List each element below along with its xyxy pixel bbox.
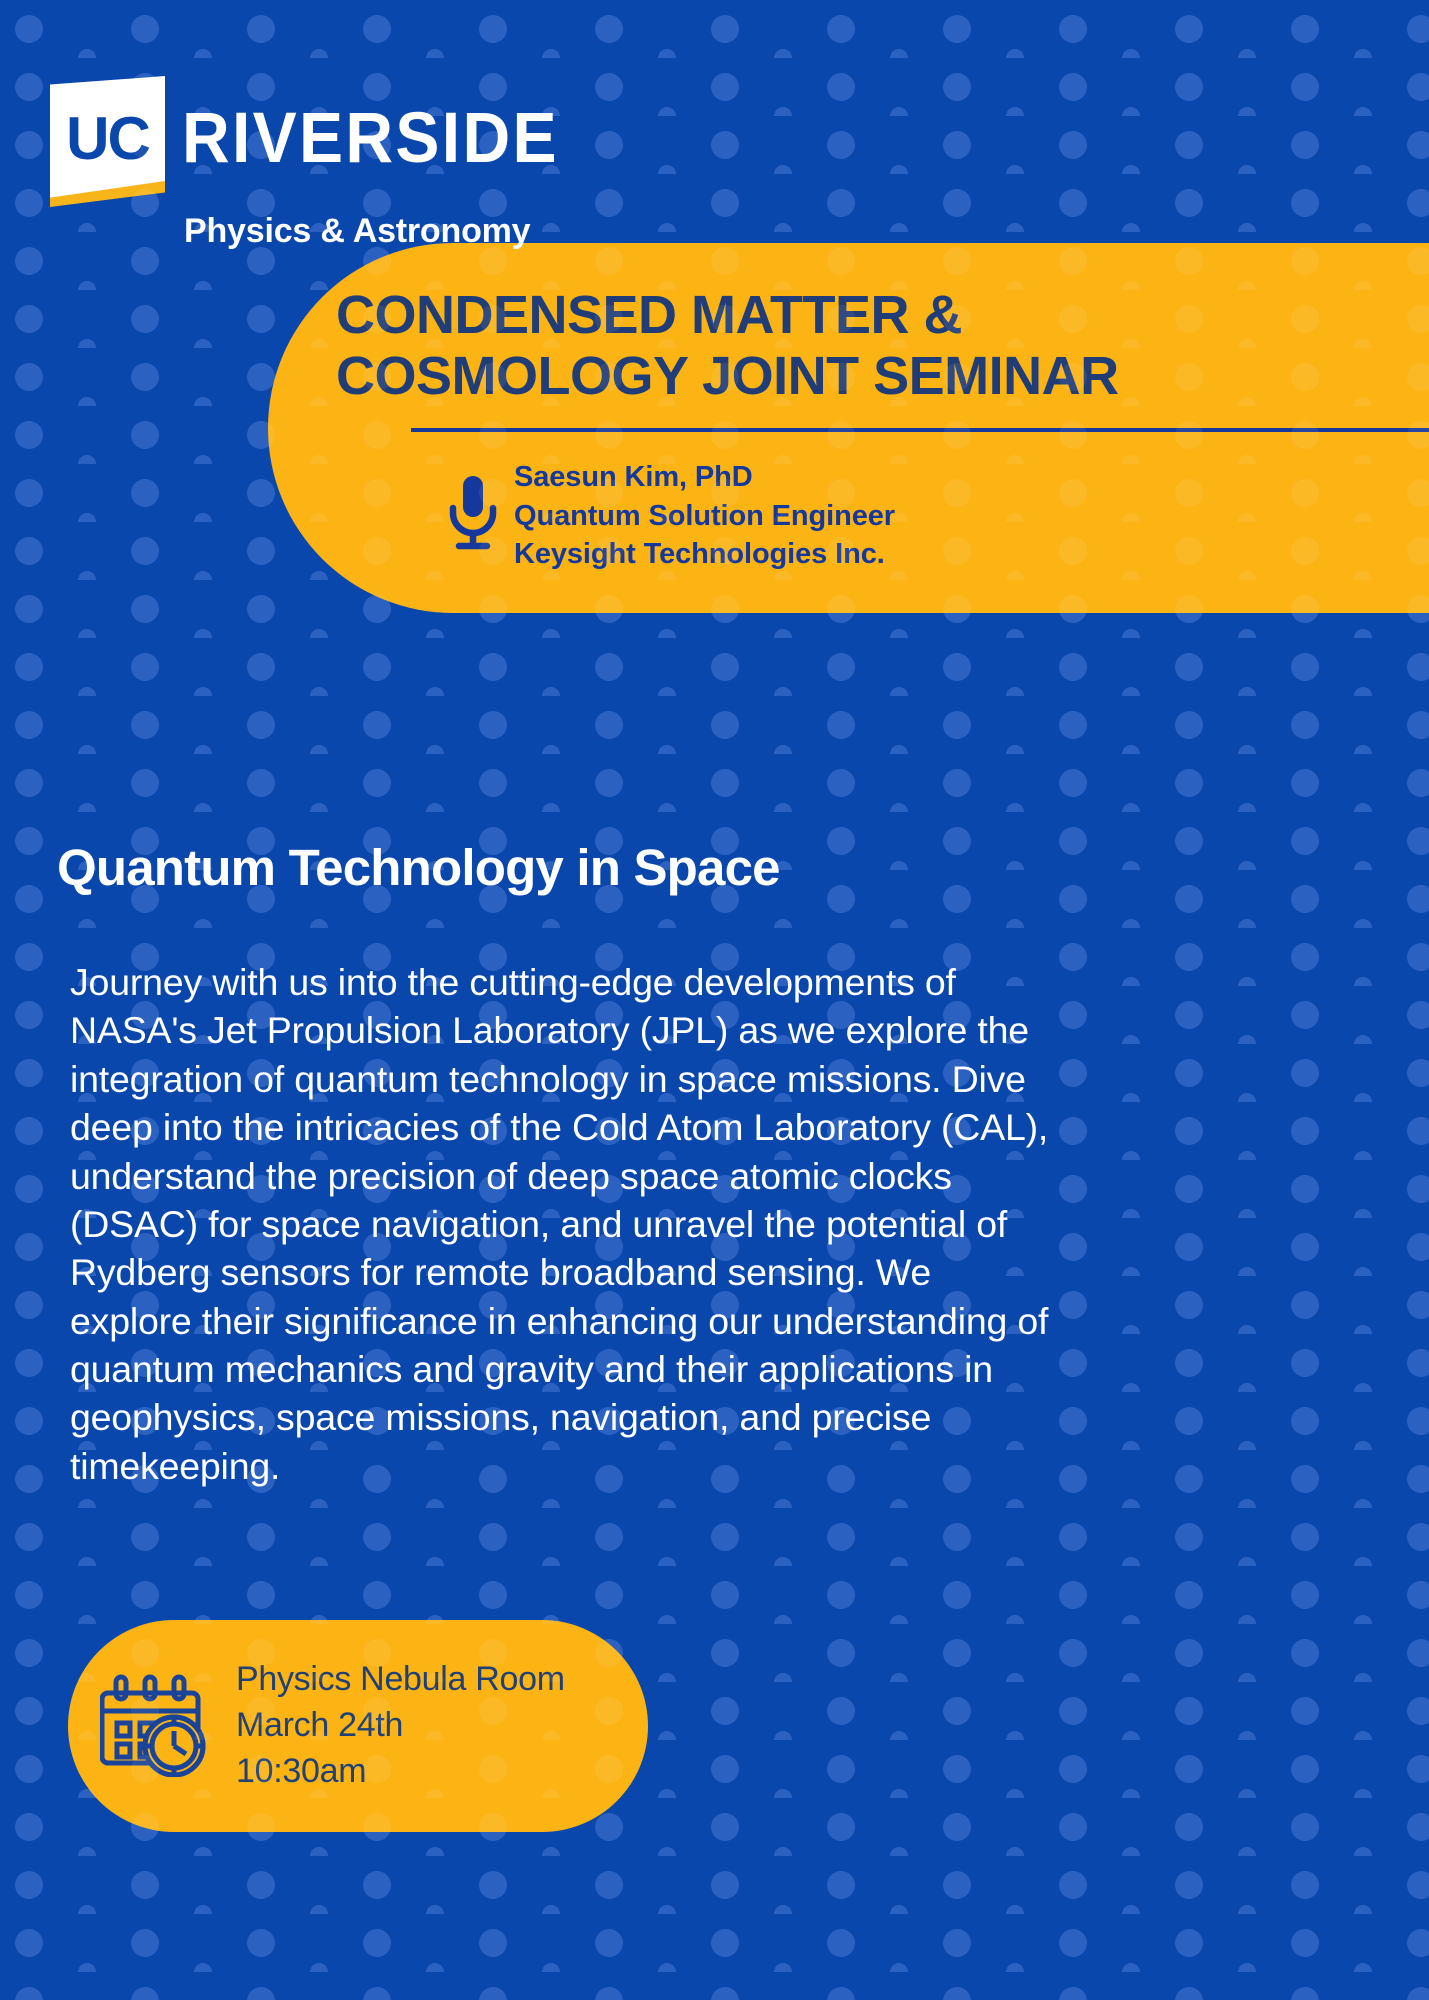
seminar-series-title: CONDENSED MATTER & COSMOLOGY JOINT SEMIN… — [336, 285, 1119, 407]
badge-divider — [411, 428, 1429, 432]
seminar-badge: CONDENSED MATTER & COSMOLOGY JOINT SEMIN… — [268, 243, 1429, 613]
ucr-logo: UC RIVERSIDE Physics & Astronomy — [50, 76, 587, 251]
microphone-icon — [446, 474, 500, 557]
calendar-clock-icon — [100, 1671, 210, 1782]
uc-shield-icon: UC — [50, 76, 165, 198]
talk-abstract: Journey with us into the cutting-edge de… — [70, 958, 1055, 1490]
speaker-block: Saesun Kim, PhD Quantum Solution Enginee… — [446, 458, 895, 574]
logo-department: Physics & Astronomy — [184, 212, 587, 251]
speaker-details: Saesun Kim, PhD Quantum Solution Enginee… — [514, 458, 895, 574]
seminar-poster: UC RIVERSIDE Physics & Astronomy CONDENS… — [0, 0, 1429, 2000]
logo-uc-text: UC — [66, 109, 149, 169]
event-details-text: Physics Nebula Room March 24th 10:30am — [236, 1657, 565, 1795]
talk-title: Quantum Technology in Space — [57, 838, 780, 897]
event-details-pill: Physics Nebula Room March 24th 10:30am — [68, 1620, 648, 1832]
logo-row: UC RIVERSIDE — [50, 76, 587, 198]
logo-wordmark: RIVERSIDE — [182, 103, 559, 174]
